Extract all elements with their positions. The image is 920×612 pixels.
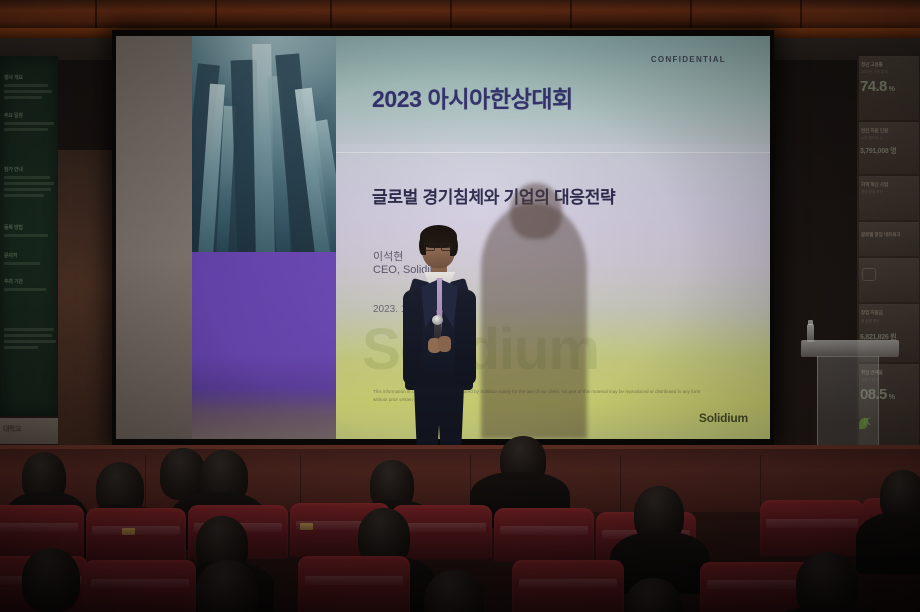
poster-heading: 등록 방법: [4, 224, 23, 231]
audience-head: [196, 560, 258, 612]
auditorium-seat: [298, 556, 410, 612]
panel-card-label: 창업 지원금: [861, 310, 883, 316]
lectern-top: [801, 340, 899, 357]
screen-blank-margin: [116, 36, 192, 439]
slide-left-band: [192, 36, 336, 439]
audience-head: [22, 548, 80, 612]
panel-card-label: 청년 고용률: [861, 62, 883, 68]
auditorium-seat: [760, 500, 864, 556]
presenter-arm-right: [455, 290, 476, 385]
microphone-head: [432, 315, 443, 325]
panel-card-sub: 누적 참여자 수: [861, 136, 883, 141]
audience-shoulders: [856, 512, 920, 574]
glasses-lens-left: [424, 243, 435, 251]
slide-subtitle: 글로벌 경기침체와 기업의 대응전략: [372, 183, 615, 208]
poster-heading: 행사 개요: [4, 74, 23, 81]
poster-heading: 주최 기관: [4, 278, 23, 285]
scissors-icon: [862, 268, 876, 281]
auditorium-seat: [512, 560, 624, 612]
panel-card-sub: 2023년 기준 통계: [861, 70, 888, 75]
speaker-shadow-head: [510, 183, 562, 239]
panel-card-sub: 전국 단위 추진: [861, 190, 883, 195]
slide-divider: [336, 152, 770, 153]
panel-card-number: 3,791,008 명: [860, 146, 896, 156]
glasses-lens-right: [441, 243, 452, 251]
conference-hall-photo: 행사 개요 주요 일정 참가 안내 등록 방법 문의처 주최 기관 대학교 청년…: [0, 0, 920, 612]
seat-number-plate: [300, 523, 313, 530]
panel-card-sub: 총 집행 예산: [861, 319, 880, 324]
left-wall-poster: 행사 개요 주요 일정 참가 안내 등록 방법 문의처 주최 기관: [0, 56, 58, 416]
lectern-logo: K: [852, 416, 868, 431]
presenter: [397, 228, 481, 480]
auditorium-seat: [84, 560, 196, 612]
university-logo-text: 대학교: [3, 424, 21, 434]
slide-purple-block: [192, 252, 336, 439]
auditorium-seat: [86, 508, 186, 562]
poster-heading: 참가 안내: [4, 166, 23, 173]
poster-heading: 문의처: [4, 252, 17, 259]
skyscraper-photo: [192, 36, 336, 252]
auditorium-seat: [494, 508, 594, 562]
panel-card-stat: 74.8%: [860, 78, 894, 95]
slide-title: 2023 아시아한상대회: [372, 80, 573, 114]
left-wall-surface: [58, 150, 114, 450]
stage-edge: [0, 445, 920, 449]
confidential-label: CONFIDENTIAL: [651, 55, 726, 64]
presenter-hand-right: [438, 336, 451, 352]
poster-heading: 주요 일정: [4, 112, 23, 119]
panel-card-label: 지역 혁신 사업: [861, 182, 888, 188]
panel-card-label: 글로벌 창업 네트워크: [861, 232, 901, 238]
slide-brand-logo: Solidium: [699, 411, 748, 425]
panel-card-label: 연간 지원 인원: [861, 128, 888, 134]
presenter-arm-left: [403, 290, 423, 385]
ceiling-wood-panel: [0, 0, 920, 30]
seat-number-plate: [122, 528, 135, 535]
presentation-slide: CONFIDENTIAL 2023 아시아한상대회 글로벌 경기침체와 기업의 …: [192, 36, 770, 439]
audience-head: [796, 552, 858, 612]
